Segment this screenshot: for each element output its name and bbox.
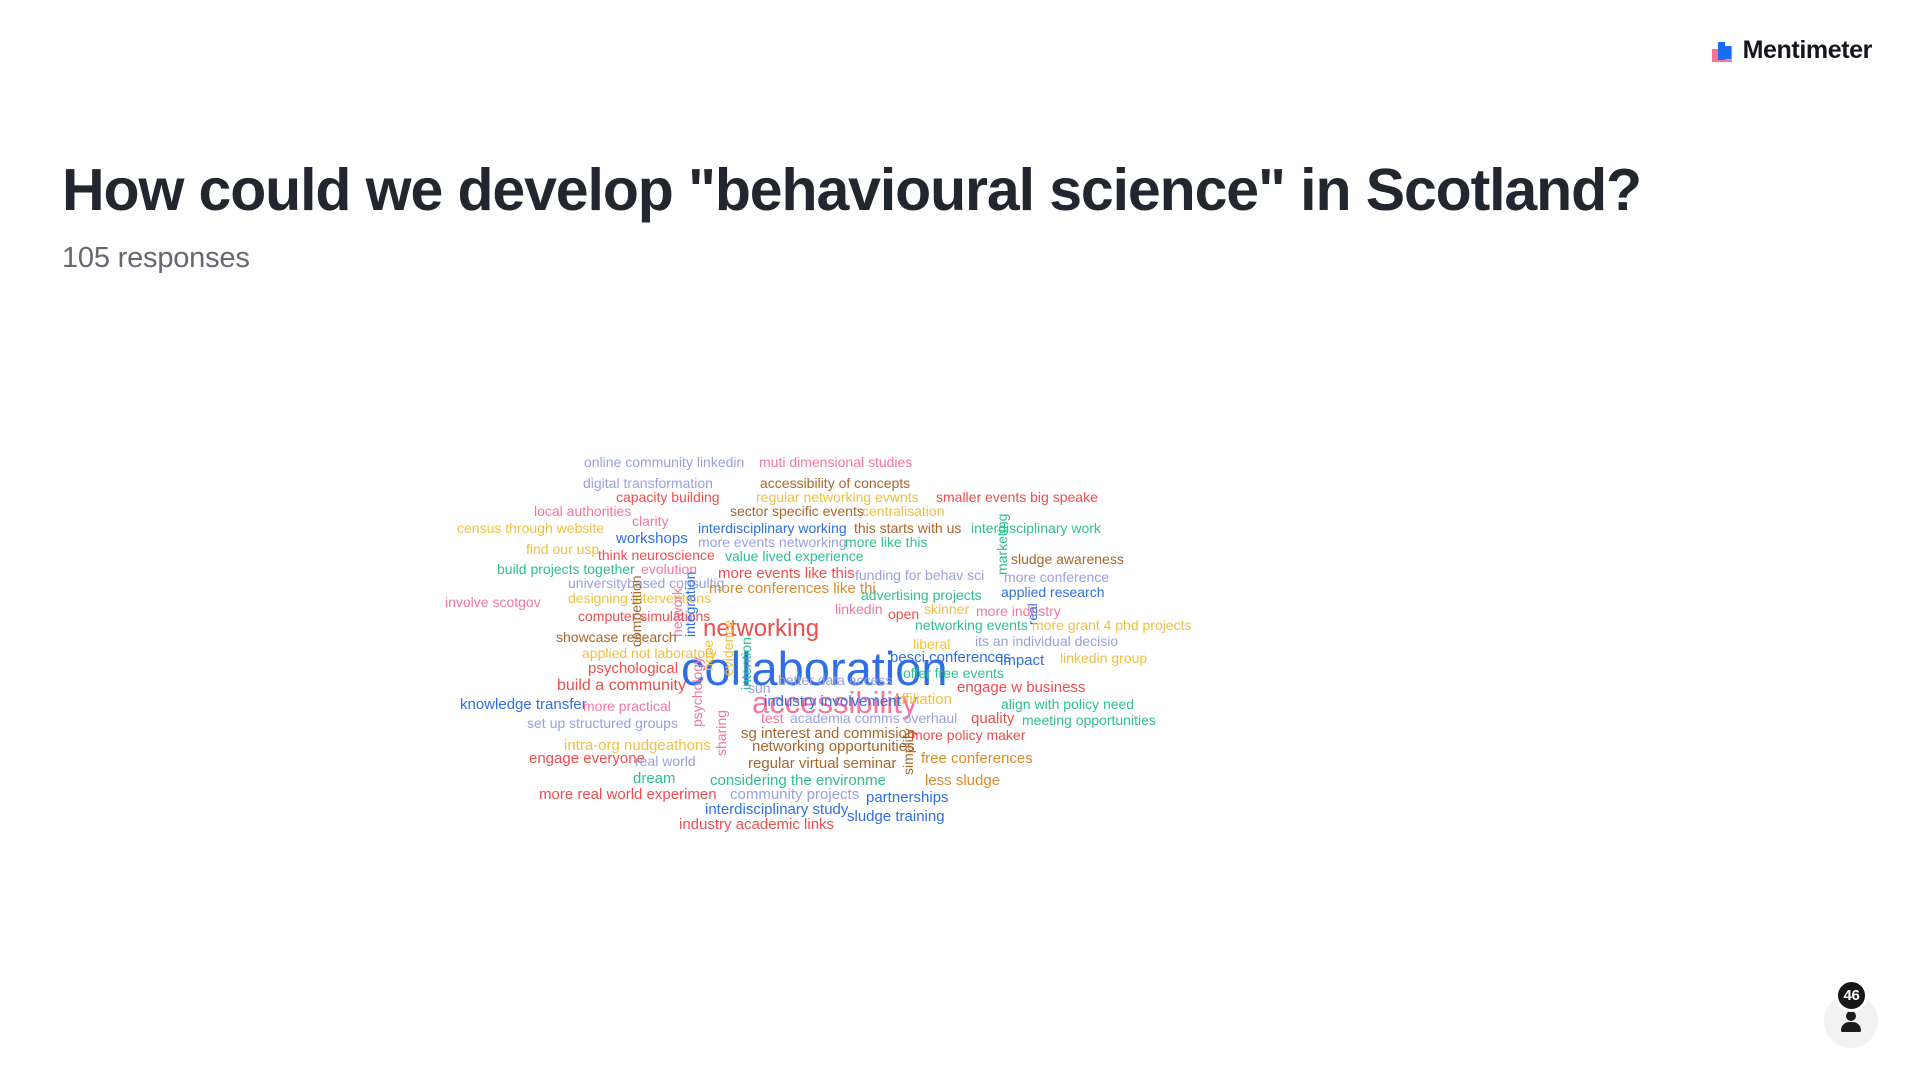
cloud-word: applied research (1001, 585, 1105, 599)
cloud-word: skinner (924, 602, 969, 616)
cloud-word: digital transformation (583, 476, 713, 490)
cloud-word: interdisciplinary work (971, 521, 1101, 535)
cloud-word: think neuroscience (598, 548, 715, 562)
cloud-word: industry involvement (764, 694, 901, 709)
cloud-word: census through website (457, 521, 604, 535)
cloud-word: more real world experimen (539, 787, 717, 802)
cloud-word: workshops (616, 531, 688, 546)
cloud-word: offer free events (903, 666, 1004, 680)
cloud-word: build projects together (497, 562, 635, 576)
cloud-word: integration (683, 572, 697, 637)
cloud-word: academia comms overhaul (790, 711, 957, 725)
cloud-word: psychological (588, 661, 678, 676)
cloud-word: more grant 4 phd projects (1032, 618, 1192, 632)
cloud-word: affiliation (893, 692, 952, 707)
cloud-word: free conferences (921, 751, 1033, 766)
cloud-word: more events networking (698, 535, 847, 549)
cloud-word: this starts with us (854, 521, 961, 535)
cloud-word: simplify (901, 728, 915, 775)
cloud-word: networking events (915, 618, 1028, 632)
cloud-word: meeting opportunities (1022, 713, 1156, 727)
cloud-word: accessibility of concepts (760, 476, 910, 490)
cloud-word: build a community (557, 678, 686, 694)
brand-wordmark: Mentimeter (1743, 38, 1872, 63)
cloud-word: more events like this (718, 566, 855, 581)
cloud-word: value lived experience (725, 549, 864, 563)
cloud-word: set up structured groups (527, 716, 678, 730)
cloud-word: dream (633, 771, 676, 786)
cloud-word: evidence (721, 620, 735, 676)
cloud-word: interdisciplinary study (705, 802, 848, 817)
cloud-word: more conferences like thi (709, 581, 876, 596)
cloud-word: networking opportunities (752, 739, 915, 754)
cloud-word: smaller events big speake (936, 490, 1098, 504)
cloud-word: liberal (913, 637, 950, 651)
cloud-word: more like this (845, 535, 927, 549)
cloud-word: psychology (690, 657, 704, 727)
heading-block: How could we develop "behavioural scienc… (62, 152, 1702, 275)
cloud-word: engage everyone (529, 751, 645, 766)
cloud-word: besci conferences (890, 650, 1011, 665)
cloud-word: community projects (730, 787, 859, 802)
cloud-word: engage w business (957, 680, 1085, 695)
cloud-word: align with policy need (1001, 697, 1134, 711)
cloud-word: knowledge transfer (460, 697, 587, 712)
cloud-word: clarity (632, 514, 669, 528)
cloud-word: regular virtual seminar (748, 756, 896, 771)
cloud-word: regular networking evwnts (756, 490, 919, 504)
cloud-word: real world (635, 754, 696, 768)
cloud-word: quality (971, 711, 1014, 726)
person-icon (1839, 1009, 1863, 1033)
cloud-word: sludge awareness (1011, 552, 1124, 566)
cloud-word: linkedin group (1060, 651, 1147, 665)
cloud-word: showcase research (556, 630, 677, 644)
cloud-word: capacity building (616, 490, 720, 504)
cloud-word: find our usp (526, 542, 599, 556)
participant-counter[interactable]: 46 (1824, 994, 1878, 1048)
cloud-word: online community linkedin (584, 455, 744, 469)
cloud-word: muti dimensional studies (759, 455, 912, 469)
cloud-word: more industry (976, 604, 1061, 618)
participant-count-badge: 46 (1835, 979, 1868, 1012)
page-title: How could we develop "behavioural scienc… (62, 152, 1682, 230)
cloud-word: more conference (1004, 570, 1109, 584)
cloud-word: partnerships (866, 790, 949, 805)
cloud-word: involve scotgov (445, 595, 541, 609)
mentimeter-logo: Mentimeter (1712, 38, 1872, 63)
cloud-word: sector specific events (730, 504, 864, 518)
cloud-word: sharing (714, 710, 728, 756)
cloud-word: test (761, 711, 784, 725)
cloud-word: marketing (995, 514, 1009, 575)
cloud-word: sludge training (847, 809, 945, 824)
cloud-word: impact (1000, 653, 1044, 668)
cloud-word: more practical (583, 699, 671, 713)
cloud-word: universitybased consultig (568, 576, 724, 590)
cloud-word: centralisation (862, 504, 945, 518)
cloud-word: its an individual decisio (975, 634, 1118, 648)
cloud-word: less sludge (925, 773, 1000, 788)
cloud-word: industry academic links (679, 817, 834, 832)
cloud-word: advertising projects (861, 588, 982, 602)
response-count: 105 responses (62, 242, 1702, 275)
cloud-word: local authorities (534, 504, 631, 518)
cloud-word: interdisciplinary working (698, 521, 847, 535)
mentimeter-mark-icon (1712, 40, 1734, 62)
cloud-word: better data access (778, 673, 892, 687)
cloud-word: linkedin (835, 602, 882, 616)
cloud-word: more policy maker (911, 728, 1025, 742)
